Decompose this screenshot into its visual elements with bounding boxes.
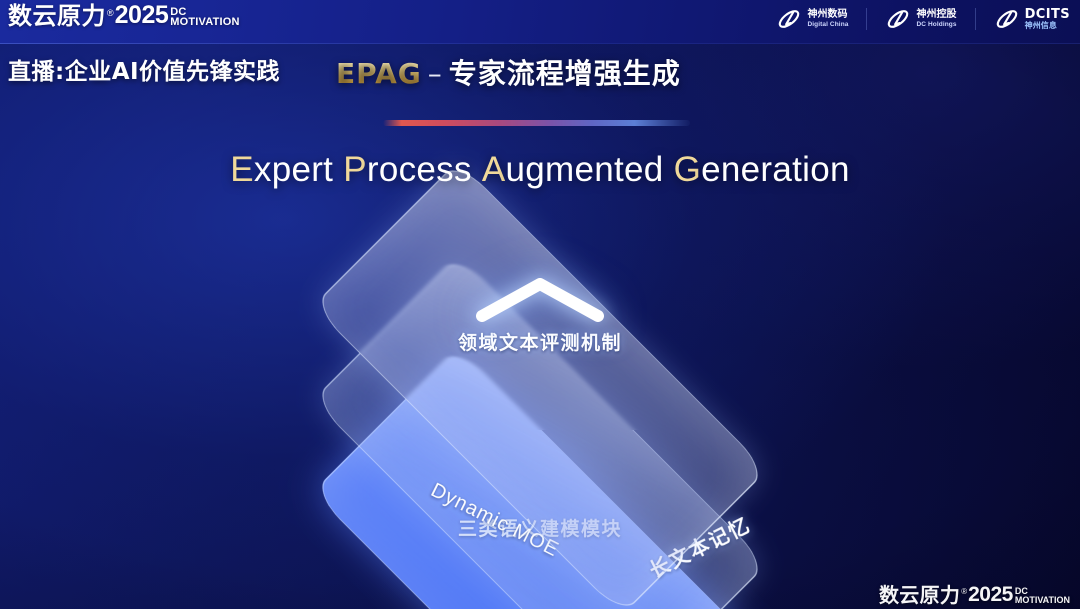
page-title-chinese: 专家流程增强生成 — [449, 57, 681, 90]
brand-logo: 数云原力 ® 2025 DC MOTIVATION — [8, 3, 240, 28]
swoosh-icon — [776, 6, 802, 32]
watermark-name-cn: 数云原力 — [879, 585, 960, 605]
partner-name-cn: 神州数码 — [807, 10, 848, 21]
subtitle-rest-3: ugmented — [505, 150, 663, 189]
diagram-layer-top[interactable]: 领域文本评测机制 — [320, 232, 760, 544]
footer-watermark-logo: 数云原力 ® 2025 DC MOTIVATION — [879, 584, 1070, 605]
watermark-motivation: MOTIVATION — [1015, 596, 1070, 604]
gradient-divider — [383, 120, 690, 126]
watermark-registered-mark: ® — [961, 588, 967, 596]
partner-logo-text: 神州控股 DC Holdings — [916, 10, 956, 28]
layer-label-top: 领域文本评测机制 — [458, 328, 622, 355]
partner-name-cn: DCITS — [1025, 8, 1070, 22]
swoosh-icon — [885, 6, 911, 32]
subtitle-rest-2: rocess — [367, 150, 472, 189]
partner-logo-row: 神州数码 Digital China 神州控股 DC Holdings — [776, 6, 1070, 32]
watermark-tagline: DC MOTIVATION — [1015, 587, 1070, 604]
partner-name-en: 神州信息 — [1025, 22, 1070, 31]
brand-logo-name-cn: 数云原力 — [8, 4, 106, 28]
subtitle-space-3 — [664, 150, 674, 189]
partner-logo-dcits: DCITS 神州信息 — [994, 6, 1070, 32]
partner-logo-dc-holdings: 神州控股 DC Holdings — [885, 6, 956, 32]
swoosh-icon — [994, 6, 1020, 32]
chevron-up-icon — [474, 272, 606, 326]
brand-logo-tagline: DC MOTIVATION — [170, 7, 239, 27]
partner-name-cn: 神州控股 — [916, 10, 956, 21]
layer-plate-top — [312, 160, 767, 609]
subtitle-rest-1: xpert — [254, 150, 333, 189]
partner-logo-text: DCITS 神州信息 — [1025, 8, 1070, 31]
top-banner: 数云原力 ® 2025 DC MOTIVATION 神州数码 Digi — [0, 0, 1080, 44]
brand-logo-motivation: MOTIVATION — [170, 17, 239, 27]
page-subtitle: Expert Process Augmented Generation — [0, 150, 1080, 190]
page-title-dash: – — [428, 57, 443, 90]
subtitle-space-1 — [333, 150, 343, 189]
subtitle-cap-1: E — [230, 150, 254, 189]
page-title: EPAG–专家流程增强生成 — [336, 52, 681, 92]
live-session-label: 直播:企业AI价值先锋实践 — [8, 52, 280, 86]
logo-divider — [866, 8, 867, 30]
subtitle-cap-2: P — [343, 150, 367, 189]
partner-name-en: DC Holdings — [916, 21, 956, 28]
logo-divider — [975, 8, 976, 30]
subtitle-rest-4: eneration — [701, 150, 850, 189]
brand-logo-year: 2025 — [115, 3, 169, 28]
subtitle-space-2 — [472, 150, 482, 189]
layered-architecture-diagram: 三类语义建模模块 Dynamic MOE 长文本记忆 领域文本评测机制 — [236, 228, 844, 600]
subtitle-cap-4: G — [674, 150, 702, 189]
watermark-year: 2025 — [968, 584, 1013, 605]
partner-name-en: Digital China — [807, 21, 848, 28]
partner-logo-digital-china: 神州数码 Digital China — [776, 6, 848, 32]
brand-logo-registered-mark: ® — [107, 9, 114, 18]
subtitle-cap-3: A — [482, 150, 506, 189]
partner-logo-text: 神州数码 Digital China — [807, 10, 848, 28]
slide-canvas: 数云原力 ® 2025 DC MOTIVATION 神州数码 Digi — [0, 0, 1080, 609]
page-title-acronym: EPAG — [336, 57, 422, 90]
